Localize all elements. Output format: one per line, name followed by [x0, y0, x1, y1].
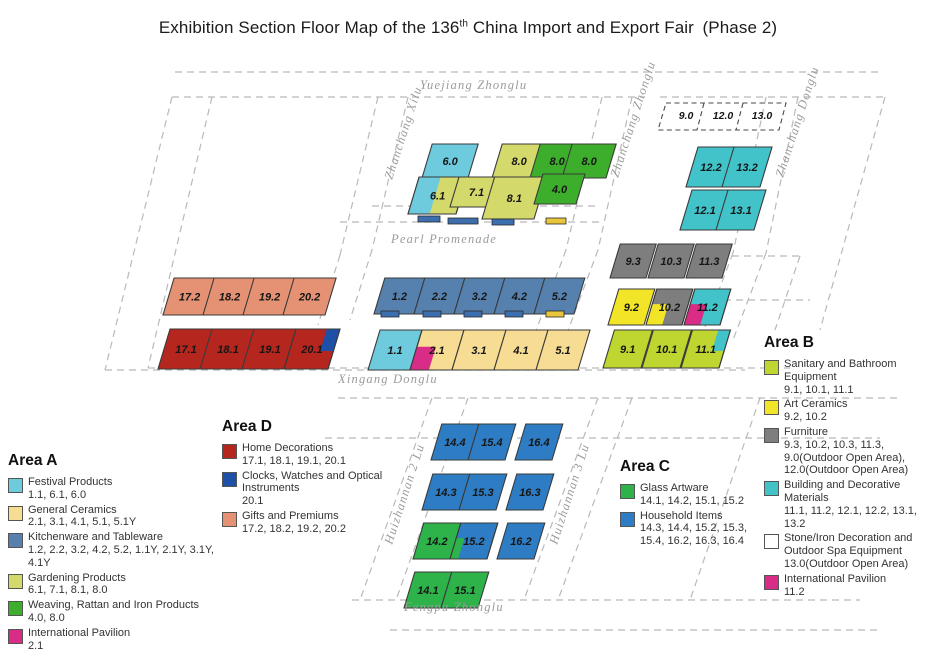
- legend-area-c-title: Area C: [620, 458, 760, 476]
- legend-item-halls: 9.2, 10.2: [784, 411, 848, 424]
- legend-item-text: Clocks, Watches and Optical Instruments2…: [242, 470, 402, 508]
- legend-color-swatch: [764, 481, 779, 496]
- legend-item-halls: 2.1, 3.1, 4.1, 5.1, 5.1Y: [28, 516, 136, 529]
- legend-area-b-items: Sanitary and Bathroom Equipment9.1, 10.1…: [764, 358, 936, 598]
- legend-item-text: Glass Artware14.1, 14.2, 15.1, 15.2: [640, 482, 744, 508]
- legend-color-swatch: [8, 629, 23, 644]
- hall-4-0[interactable]: 4.0: [534, 174, 585, 204]
- legend-item-halls: 14.3, 14.4, 15.2, 15.3, 15.4, 16.2, 16.3…: [640, 522, 760, 548]
- legend-item-name: Home Decorations: [242, 442, 346, 455]
- legend-item-text: Art Ceramics9.2, 10.2: [784, 398, 848, 424]
- legend-area-c: Area C Glass Artware14.1, 14.2, 15.1, 15…: [620, 458, 760, 550]
- open-area-label-9-0: 9.0: [679, 110, 694, 122]
- legend-item-name: International Pavilion: [28, 627, 130, 640]
- legend-item-text: Gifts and Premiums17.2, 18.2, 19.2, 20.2: [242, 510, 346, 536]
- legend-item-name: Festival Products: [28, 476, 112, 489]
- legend-item-text: Festival Products1.1, 6.1, 6.0: [28, 476, 112, 502]
- legend-color-swatch: [764, 428, 779, 443]
- legend-item[interactable]: Clocks, Watches and Optical Instruments2…: [222, 470, 402, 508]
- entrance-marker: [381, 311, 399, 317]
- legend-item-name: Gardening Products: [28, 572, 126, 585]
- legend-item-name: Art Ceramics: [784, 398, 848, 411]
- legend-item-halls: 9.3, 10.2, 10.3, 11.3, 9.0(Outdoor Open …: [784, 439, 936, 477]
- legend-item[interactable]: Weaving, Rattan and Iron Products4.0, 8.…: [8, 599, 223, 625]
- legend-item[interactable]: General Ceramics2.1, 3.1, 4.1, 5.1, 5.1Y: [8, 504, 223, 530]
- hall-fill: [506, 474, 554, 510]
- legend-color-swatch: [8, 601, 23, 616]
- legend-item[interactable]: Festival Products1.1, 6.1, 6.0: [8, 476, 223, 502]
- legend-item-name: Weaving, Rattan and Iron Products: [28, 599, 199, 612]
- legend-item-text: International Pavilion11.2: [784, 573, 886, 599]
- legend-color-swatch: [222, 512, 237, 527]
- legend-item-text: Household Items14.3, 14.4, 15.2, 15.3, 1…: [640, 510, 760, 548]
- legend-item-halls: 9.1, 10.1, 11.1: [784, 384, 936, 397]
- legend-item[interactable]: Furniture9.3, 10.2, 10.3, 11.3, 9.0(Outd…: [764, 426, 936, 477]
- legend-item-text: Stone/Iron Decoration and Outdoor Spa Eq…: [784, 532, 936, 570]
- hall-16-4[interactable]: 16.4: [515, 424, 563, 460]
- hall-fill: [497, 523, 545, 559]
- legend-area-a-title: Area A: [8, 452, 223, 470]
- legend-color-swatch: [8, 478, 23, 493]
- legend-item-text: Sanitary and Bathroom Equipment9.1, 10.1…: [784, 358, 936, 396]
- legend-color-swatch: [620, 484, 635, 499]
- legend-item-name: General Ceramics: [28, 504, 136, 517]
- outdoor-open-areas: 9.012.013.0: [658, 103, 786, 130]
- legend-item-halls: 4.0, 8.0: [28, 612, 199, 625]
- legend-item[interactable]: Gardening Products6.1, 7.1, 8.1, 8.0: [8, 572, 223, 598]
- legend-item[interactable]: Building and Decorative Materials11.1, 1…: [764, 479, 936, 530]
- legend-item-name: Building and Decorative Materials: [784, 479, 936, 505]
- legend-item-halls: 17.2, 18.2, 19.2, 20.2: [242, 523, 346, 536]
- legend-color-swatch: [222, 472, 237, 487]
- street-label: Yuejiang Zhonglu: [420, 78, 527, 92]
- legend-item-halls: 1.2, 2.2, 3.2, 4.2, 5.2, 1.1Y, 2.1Y, 3.1…: [28, 544, 223, 570]
- entrance-marker: [448, 218, 478, 224]
- legend-item-halls: 11.2: [784, 586, 886, 599]
- hall-fill: [515, 424, 563, 460]
- legend-area-a: Area A Festival Products1.1, 6.1, 6.0Gen…: [8, 452, 223, 654]
- legend-color-swatch: [222, 444, 237, 459]
- legend-item-name: Household Items: [640, 510, 760, 523]
- legend-item[interactable]: Stone/Iron Decoration and Outdoor Spa Eq…: [764, 532, 936, 570]
- legend-item-halls: 17.1, 18.1, 19.1, 20.1: [242, 455, 346, 468]
- legend-color-swatch: [764, 534, 779, 549]
- legend-item-halls: 20.1: [242, 495, 402, 508]
- legend-item-name: Sanitary and Bathroom Equipment: [784, 358, 936, 384]
- legend-item-name: Stone/Iron Decoration and Outdoor Spa Eq…: [784, 532, 936, 558]
- entrance-marker: [546, 218, 566, 224]
- legend-item-name: International Pavilion: [784, 573, 886, 586]
- legend-color-swatch: [8, 506, 23, 521]
- legend-item-halls: 2.1: [28, 640, 130, 653]
- legend-item-halls: 1.1, 6.1, 6.0: [28, 489, 112, 502]
- legend-item-text: Kitchenware and Tableware1.2, 2.2, 3.2, …: [28, 531, 223, 569]
- legend-area-c-items: Glass Artware14.1, 14.2, 15.1, 15.2House…: [620, 482, 760, 548]
- legend-color-swatch: [764, 360, 779, 375]
- entrance-marker: [505, 311, 523, 317]
- legend-item-text: General Ceramics2.1, 3.1, 4.1, 5.1, 5.1Y: [28, 504, 136, 530]
- legend-color-swatch: [620, 512, 635, 527]
- street-label: Fengpu Zhonglu: [403, 600, 504, 614]
- legend-item-text: Weaving, Rattan and Iron Products4.0, 8.…: [28, 599, 199, 625]
- street-label: Zhanchang Donglu: [773, 64, 822, 179]
- legend-item-text: Building and Decorative Materials11.1, 1…: [784, 479, 936, 530]
- legend-item-halls: 14.1, 14.2, 15.1, 15.2: [640, 495, 744, 508]
- legend-color-swatch: [8, 533, 23, 548]
- legend-area-d-items: Home Decorations17.1, 18.1, 19.1, 20.1Cl…: [222, 442, 402, 536]
- open-area-label-12-0: 12.0: [713, 110, 734, 122]
- legend-area-d: Area D Home Decorations17.1, 18.1, 19.1,…: [222, 418, 402, 538]
- hall-fill: [534, 174, 585, 204]
- legend-item-name: Clocks, Watches and Optical Instruments: [242, 470, 402, 496]
- legend-area-a-items: Festival Products1.1, 6.1, 6.0General Ce…: [8, 476, 223, 652]
- entrance-marker: [546, 311, 564, 317]
- legend-item-text: Home Decorations17.1, 18.1, 19.1, 20.1: [242, 442, 346, 468]
- legend-item[interactable]: International Pavilion11.2: [764, 573, 936, 599]
- hall-16-2[interactable]: 16.2: [497, 523, 545, 559]
- legend-item[interactable]: Glass Artware14.1, 14.2, 15.1, 15.2: [620, 482, 760, 508]
- legend-item-text: International Pavilion2.1: [28, 627, 130, 653]
- entrance-marker: [418, 216, 440, 222]
- legend-color-swatch: [764, 400, 779, 415]
- hall-16-3[interactable]: 16.3: [506, 474, 554, 510]
- legend-item-halls: 6.1, 7.1, 8.1, 8.0: [28, 584, 126, 597]
- legend-item-halls: 11.1, 11.2, 12.1, 12.2, 13.1, 13.2: [784, 505, 936, 531]
- legend-item-name: Furniture: [784, 426, 936, 439]
- legend-item[interactable]: Home Decorations17.1, 18.1, 19.1, 20.1: [222, 442, 402, 468]
- legend-item[interactable]: Gifts and Premiums17.2, 18.2, 19.2, 20.2: [222, 510, 402, 536]
- street-label: Zhanchang Zhonglu: [608, 59, 659, 179]
- entrance-marker: [464, 311, 482, 317]
- street-label: Zhanchang Xilu: [382, 84, 425, 181]
- legend-item-text: Furniture9.3, 10.2, 10.3, 11.3, 9.0(Outd…: [784, 426, 936, 477]
- floor-map-page: Exhibition Section Floor Map of the 136t…: [0, 0, 936, 663]
- legend-area-b-title: Area B: [764, 334, 936, 352]
- entrance-marker: [492, 219, 514, 225]
- legend-item-name: Kitchenware and Tableware: [28, 531, 223, 544]
- legend-item-name: Glass Artware: [640, 482, 744, 495]
- legend-color-swatch: [764, 575, 779, 590]
- entrance-marker: [423, 311, 441, 317]
- legend-item-halls: 13.0(Outdoor Open Area): [784, 558, 936, 571]
- open-area-label-13-0: 13.0: [752, 110, 773, 122]
- hall-fill: [422, 144, 478, 178]
- legend-item[interactable]: Sanitary and Bathroom Equipment9.1, 10.1…: [764, 358, 936, 396]
- legend-item[interactable]: Household Items14.3, 14.4, 15.2, 15.3, 1…: [620, 510, 760, 548]
- legend-area-b: Area B Sanitary and Bathroom Equipment9.…: [764, 334, 936, 600]
- street-label: Xingang Donglu: [337, 372, 438, 386]
- legend-item[interactable]: International Pavilion2.1: [8, 627, 223, 653]
- street-label: Pearl Promenade: [390, 232, 497, 246]
- legend-item-name: Gifts and Premiums: [242, 510, 346, 523]
- legend-color-swatch: [8, 574, 23, 589]
- legend-item[interactable]: Art Ceramics9.2, 10.2: [764, 398, 936, 424]
- legend-item[interactable]: Kitchenware and Tableware1.2, 2.2, 3.2, …: [8, 531, 223, 569]
- legend-area-d-title: Area D: [222, 418, 402, 436]
- hall-6-0[interactable]: 6.0: [422, 144, 478, 178]
- legend-item-text: Gardening Products6.1, 7.1, 8.1, 8.0: [28, 572, 126, 598]
